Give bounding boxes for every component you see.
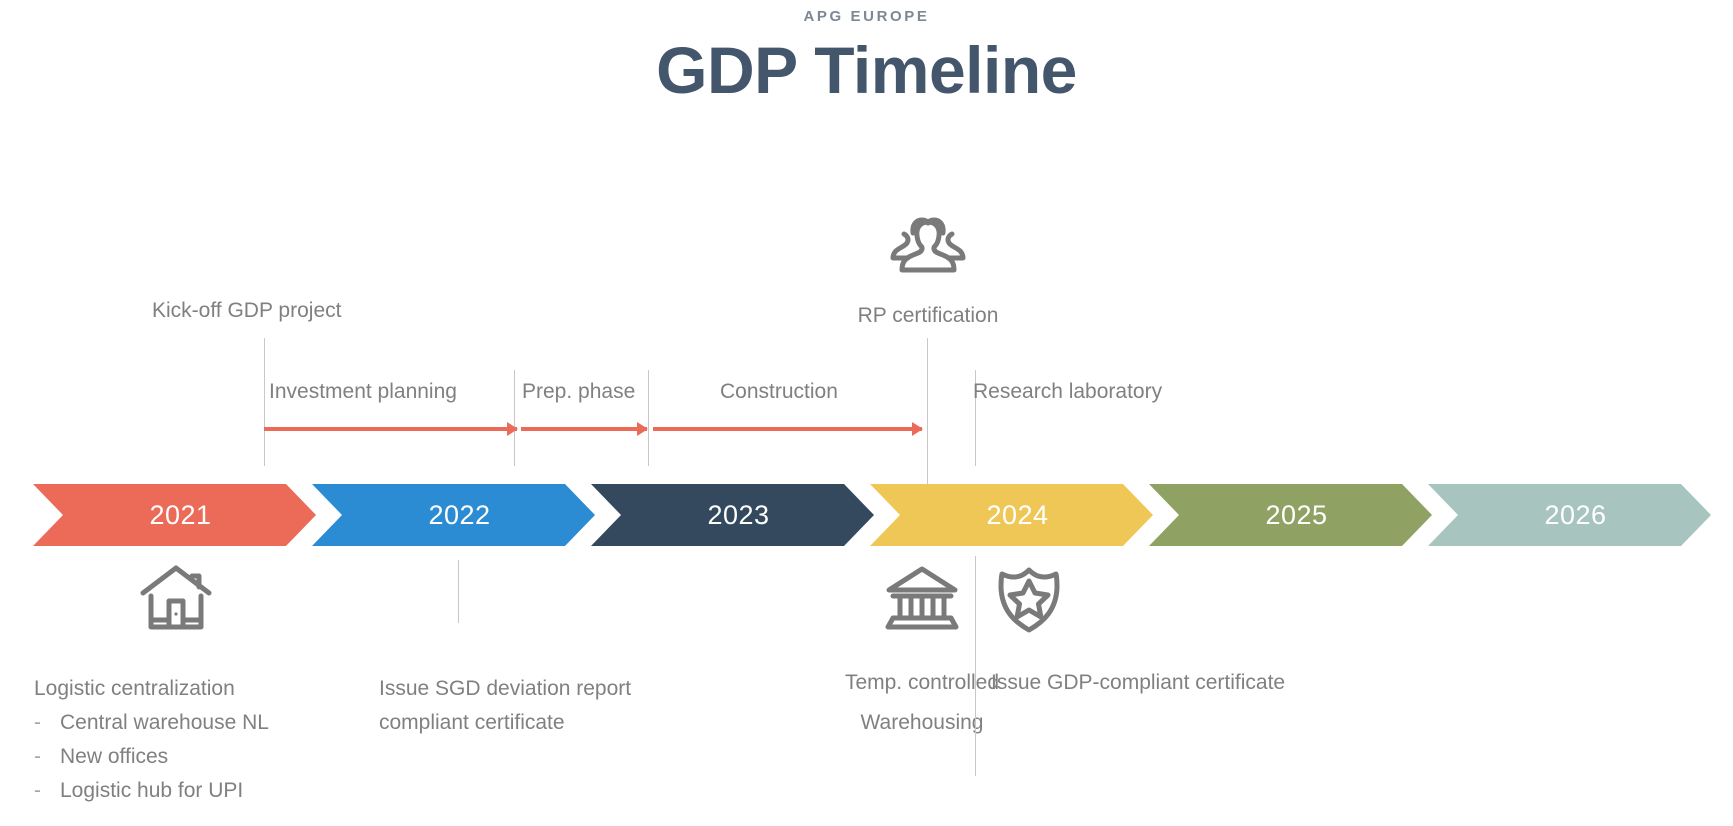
year-chevron-2022[interactable]: 2022 (312, 484, 595, 546)
deliverable-2021-title: Logistic centralization (34, 672, 269, 706)
phase-arrow-investment-planning (264, 427, 517, 431)
deliverable-2024-certificate-connector (975, 556, 976, 776)
list-item: - Central warehouse NL (34, 706, 269, 740)
year-chevron-2023[interactable]: 2023 (591, 484, 874, 546)
rp-certification-connector (927, 338, 928, 490)
year-label-2025: 2025 (1265, 500, 1327, 531)
shield-star-icon (993, 562, 1065, 634)
year-label-2023: 2023 (707, 500, 769, 531)
phase-label-research-laboratory: Research laboratory (973, 381, 1162, 402)
deliverable-2022-connector (458, 560, 459, 623)
phase-label-investment-planning: Investment planning (269, 381, 457, 402)
phase-arrow-construction (653, 427, 922, 431)
list-item: - Logistic hub for UPI (34, 774, 269, 808)
phase-arrow-prep-phase (521, 427, 647, 431)
year-chevron-2021[interactable]: 2021 (33, 484, 316, 546)
kickoff-label: Kick-off GDP project (152, 300, 341, 321)
year-label-2022: 2022 (428, 500, 490, 531)
eyebrow-label: APG EUROPE (0, 8, 1733, 25)
phase-label-construction: Construction (720, 381, 838, 402)
list-item-label: Central warehouse NL (60, 706, 269, 740)
deliverable-2022: Issue SGD deviation report compliant cer… (379, 672, 631, 740)
bullet-marker: - (34, 774, 60, 808)
year-chevron-band: 2021 2022 2023 2024 2025 2026 (0, 484, 1733, 546)
year-label-2024: 2024 (986, 500, 1048, 531)
phase-divider-prep (514, 370, 515, 466)
list-item-label: Logistic hub for UPI (60, 774, 243, 808)
deliverable-2024-certificate-label: Issue GDP-compliant certificate (991, 672, 1285, 693)
deliverable-2022-line1: Issue SGD deviation report (379, 672, 631, 706)
kickoff-connector (264, 338, 265, 466)
timeline-infographic: APG EUROPE GDP Timeline RP certification… (0, 0, 1733, 826)
year-chevron-2024[interactable]: 2024 (870, 484, 1153, 546)
phase-divider-construction (648, 370, 649, 466)
year-chevron-2026[interactable]: 2026 (1428, 484, 1711, 546)
deliverable-2021-list: - Central warehouse NL - New offices - L… (34, 706, 269, 808)
bullet-marker: - (34, 740, 60, 774)
people-group-icon (886, 214, 970, 278)
year-label-2021: 2021 (149, 500, 211, 531)
deliverable-2022-line2: compliant certificate (379, 706, 631, 740)
bullet-marker: - (34, 706, 60, 740)
list-item-label: New offices (60, 740, 168, 774)
bank-building-icon (884, 565, 960, 631)
year-chevron-2025[interactable]: 2025 (1149, 484, 1432, 546)
list-item: - New offices (34, 740, 269, 774)
rp-certification-label: RP certification (786, 305, 1070, 326)
phase-label-prep-phase: Prep. phase (522, 381, 635, 402)
year-label-2026: 2026 (1544, 500, 1606, 531)
deliverable-2024-warehouse-line2: Warehousing (762, 712, 1082, 733)
page-title: GDP Timeline (0, 32, 1733, 108)
house-icon (140, 565, 212, 631)
deliverable-2021: Logistic centralization - Central wareho… (34, 672, 269, 808)
